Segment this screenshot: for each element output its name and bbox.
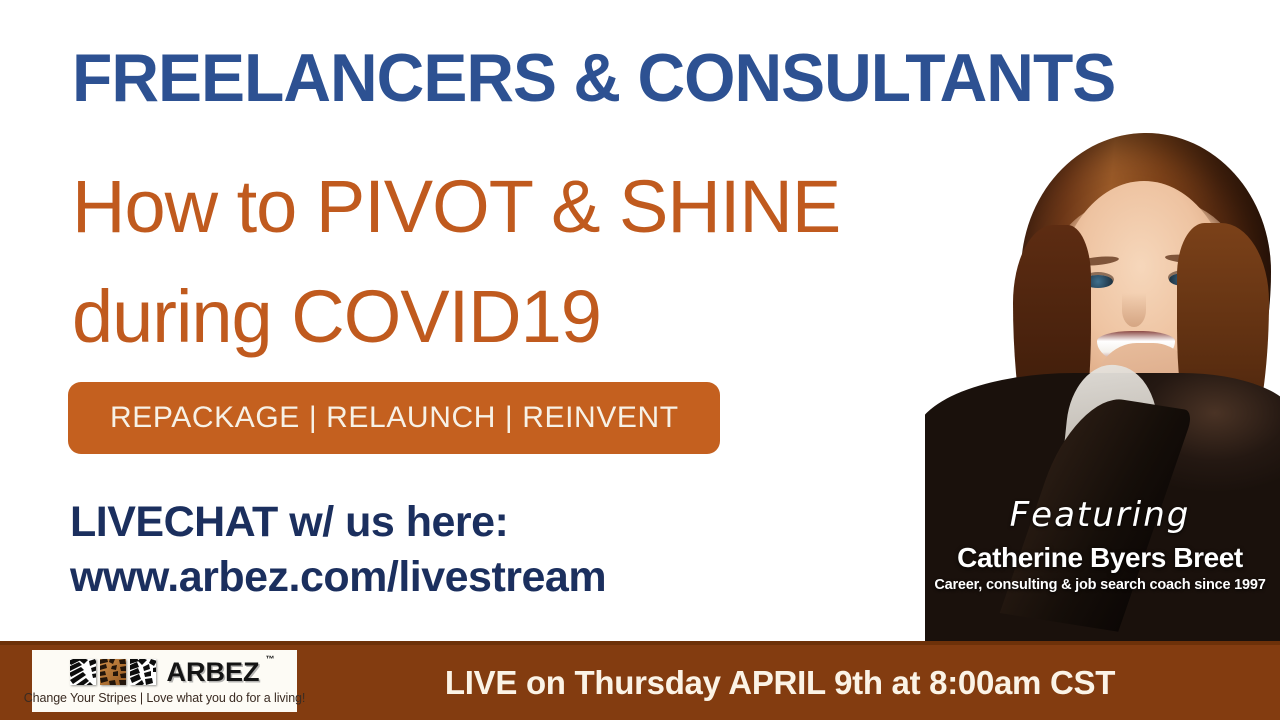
subheadline-line-2: during COVID19 xyxy=(72,262,952,372)
subheadline: How to PIVOT & SHINE during COVID19 xyxy=(72,152,952,371)
logo-wordmark-text: ARBEZ xyxy=(167,657,260,687)
page-title: FREELANCERS & CONSULTANTS xyxy=(72,44,1158,112)
photo-nose xyxy=(1122,293,1146,327)
logo-wordmark: ARBEZ ™ xyxy=(167,659,260,686)
trademark-symbol: ™ xyxy=(266,655,275,664)
arbez-logo: ARBEZ ™ Change Your Stripes | Love what … xyxy=(32,650,297,712)
livechat-url[interactable]: www.arbez.com/livestream xyxy=(70,550,690,605)
benefits-pill-label: REPACKAGE | RELAUNCH | REINVENT xyxy=(68,401,679,435)
featuring-label: Featuring xyxy=(930,498,1270,534)
benefits-pill: REPACKAGE | RELAUNCH | REINVENT xyxy=(68,382,720,454)
logo-tagline: Change Your Stripes | Love what you do f… xyxy=(24,691,306,705)
zebra-stripe-swatch-icon xyxy=(70,659,96,685)
zebra-stripe-swatch-icon-2 xyxy=(130,659,156,685)
speaker-credit: Featuring Catherine Byers Breet Career, … xyxy=(930,498,1270,593)
schedule-text: LIVE on Thursday APRIL 9th at 8:00am CST xyxy=(330,645,1230,720)
livechat-label: LIVECHAT w/ us here: xyxy=(70,498,508,546)
speaker-name: Catherine Byers Breet xyxy=(930,542,1270,574)
speaker-tagline: Career, consulting & job search coach si… xyxy=(930,577,1270,593)
tiger-stripe-swatch-icon xyxy=(100,659,126,685)
subheadline-line-1: How to PIVOT & SHINE xyxy=(72,165,840,248)
logo-top-row: ARBEZ ™ xyxy=(70,657,260,687)
promo-poster: FREELANCERS & CONSULTANTS How to PIVOT &… xyxy=(0,0,1280,720)
livechat-block: LIVECHAT w/ us here: www.arbez.com/lives… xyxy=(70,495,690,605)
